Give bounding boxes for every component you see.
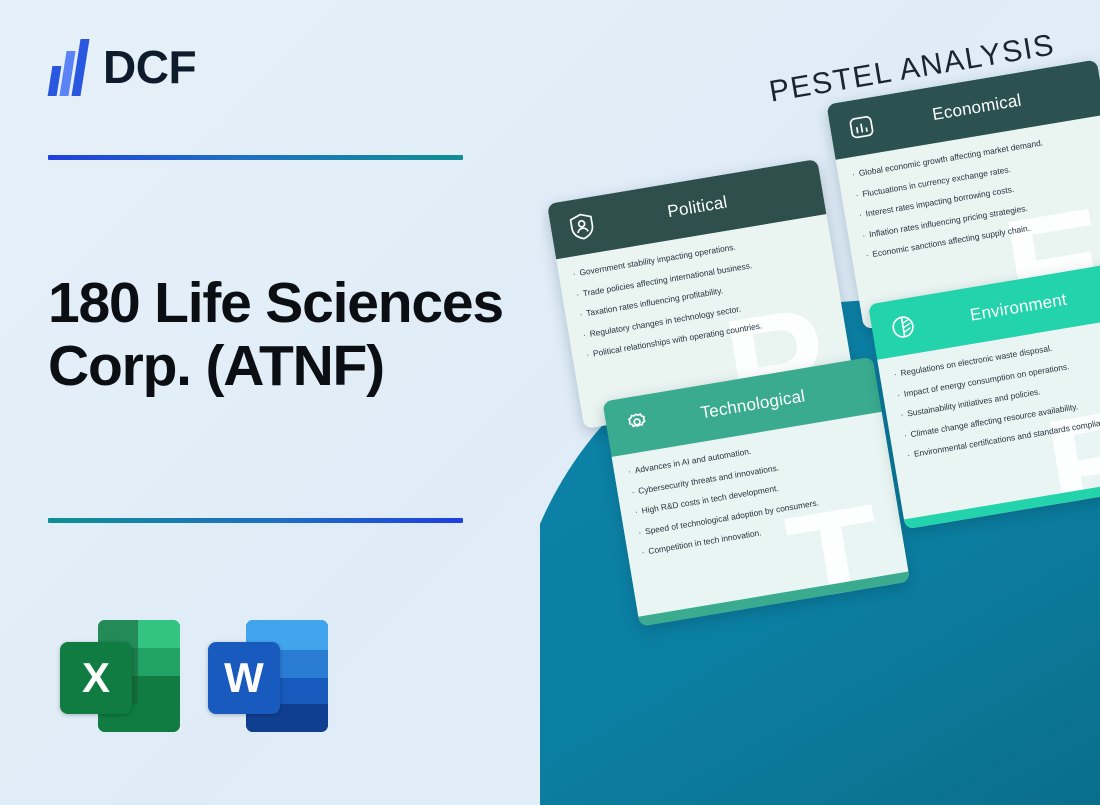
pestel-card-technological[interactable]: Technological T Advances in AI and autom…: [602, 356, 910, 626]
leaf-icon: [886, 310, 921, 345]
download-icons: X W: [60, 620, 328, 732]
page-title: 180 Life Sciences Corp. (ATNF): [48, 272, 518, 397]
word-file-icon[interactable]: W: [208, 620, 328, 732]
excel-file-icon[interactable]: X: [60, 620, 180, 732]
brand-logo[interactable]: DCF: [48, 38, 196, 96]
card-footer-environment: [904, 474, 1100, 529]
brand-logo-text: DCF: [103, 44, 196, 90]
word-letter: W: [208, 642, 280, 714]
pestel-board: PESTEL ANALYSIS Political P Government s…: [540, 14, 1100, 623]
excel-letter: X: [60, 642, 132, 714]
pestel-card-environment[interactable]: Environment E Regulations on electronic …: [868, 259, 1100, 529]
left-info-panel: DCF 180 Life Sciences Corp. (ATNF) X W: [0, 0, 540, 805]
gear-icon: [620, 407, 655, 442]
shield-person-icon: [565, 209, 600, 244]
pestel-illustration: PESTEL ANALYSIS Political P Government s…: [540, 0, 1100, 805]
divider-bottom: [48, 518, 463, 523]
divider-top: [48, 155, 463, 160]
bar-chart-logo-icon: [48, 38, 90, 96]
bar-chart-icon: [844, 110, 879, 145]
